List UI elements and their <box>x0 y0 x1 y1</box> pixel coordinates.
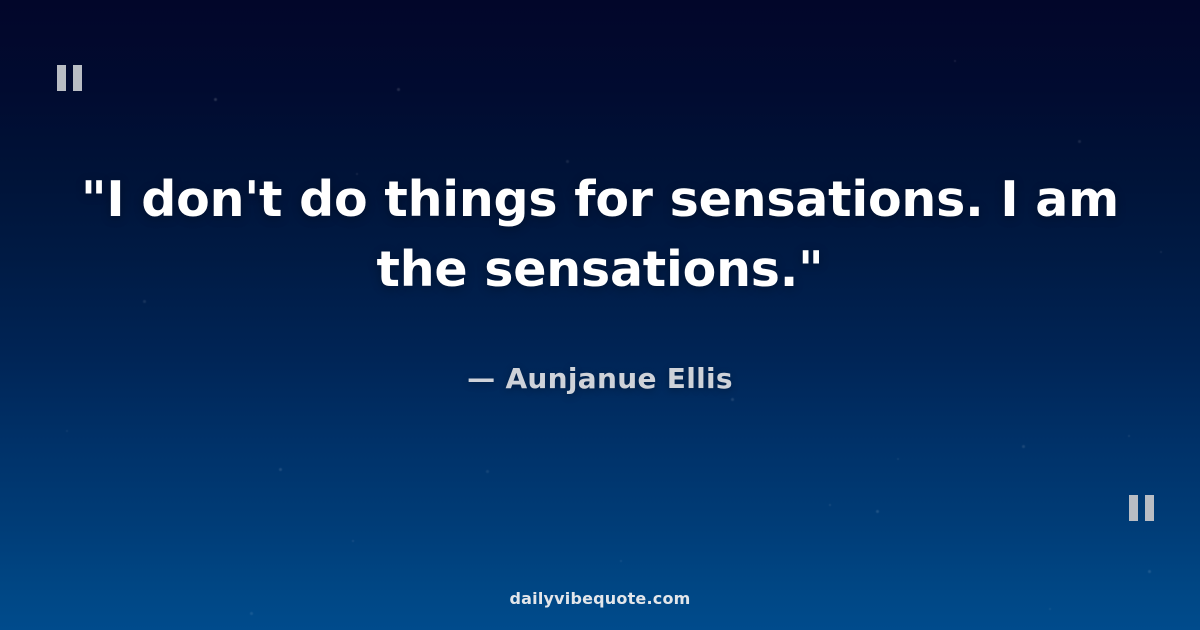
star-speck <box>250 612 253 615</box>
quote-card: "I don't do things for sensations. I am … <box>0 0 1200 630</box>
quote-content: "I don't do things for sensations. I am … <box>0 0 1200 560</box>
quote-text: "I don't do things for sensations. I am … <box>70 165 1130 304</box>
quote-attribution: — Aunjanue Ellis <box>467 362 733 395</box>
star-speck <box>1148 570 1151 573</box>
footer-domain-label: dailyvibequote.com <box>509 589 690 608</box>
star-speck <box>1049 608 1051 610</box>
footer: dailyvibequote.com <box>0 589 1200 608</box>
star-speck <box>620 560 622 562</box>
